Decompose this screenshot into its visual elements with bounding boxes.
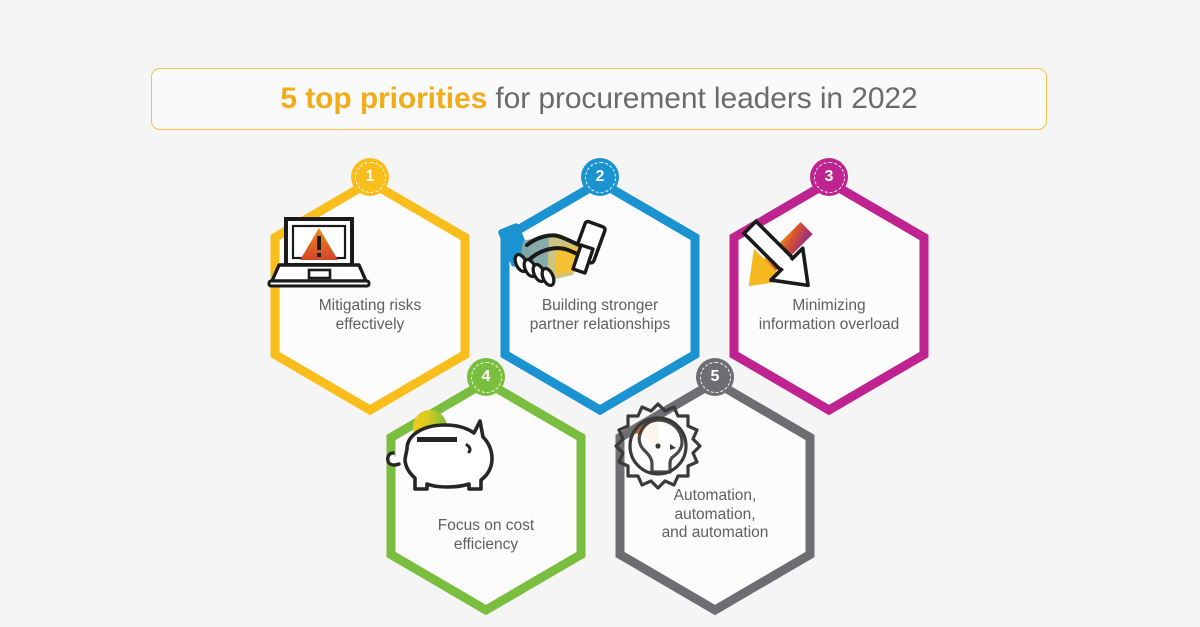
- page-title-rest: for procurement leaders in 2022: [487, 82, 917, 115]
- badge-number-2: 2: [596, 169, 605, 185]
- priority-label-1: Mitigating risks effectively: [267, 297, 473, 334]
- badge-number-1: 1: [366, 169, 375, 185]
- priority-badge-2: 2: [581, 158, 619, 196]
- priority-label-3-line2: information overload: [726, 316, 932, 335]
- priority-label-5: Automation, automation, and automation: [612, 487, 818, 543]
- page-title: 5 top priorities for procurement leaders…: [151, 68, 1047, 130]
- priority-label-4-line2: efficiency: [383, 536, 589, 555]
- priority-label-3-line1: Minimizing: [726, 297, 932, 316]
- priority-label-4: Focus on cost efficiency: [383, 517, 589, 554]
- priority-label-1-line2: effectively: [267, 316, 473, 335]
- priority-label-4-line1: Focus on cost: [383, 517, 589, 536]
- priority-badge-1: 1: [351, 158, 389, 196]
- priority-label-5-line2: automation,: [612, 506, 818, 525]
- priority-label-5-line1: Automation,: [612, 487, 818, 506]
- priority-label-2-line2: partner relationships: [497, 316, 703, 335]
- priority-badge-5: 5: [696, 358, 734, 396]
- badge-number-5: 5: [711, 369, 720, 385]
- priority-label-3: Minimizing information overload: [726, 297, 932, 334]
- priority-label-1-line1: Mitigating risks: [267, 297, 473, 316]
- page-title-text: 5 top priorities for procurement leaders…: [280, 82, 917, 116]
- priority-card-5[interactable]: Automation, automation, and automation 5: [612, 377, 818, 615]
- priority-label-2-line1: Building stronger: [497, 297, 703, 316]
- priority-badge-4: 4: [467, 358, 505, 396]
- priority-label-5-line3: and automation: [612, 524, 818, 543]
- badge-number-3: 3: [825, 169, 834, 185]
- priority-badge-3: 3: [810, 158, 848, 196]
- infographic-canvas: 5 top priorities for procurement leaders…: [0, 0, 1200, 627]
- priority-card-4[interactable]: Focus on cost efficiency 4: [383, 377, 589, 615]
- priority-label-2: Building stronger partner relationships: [497, 297, 703, 334]
- page-title-highlight: 5 top priorities: [280, 82, 487, 115]
- badge-number-4: 4: [482, 369, 491, 385]
